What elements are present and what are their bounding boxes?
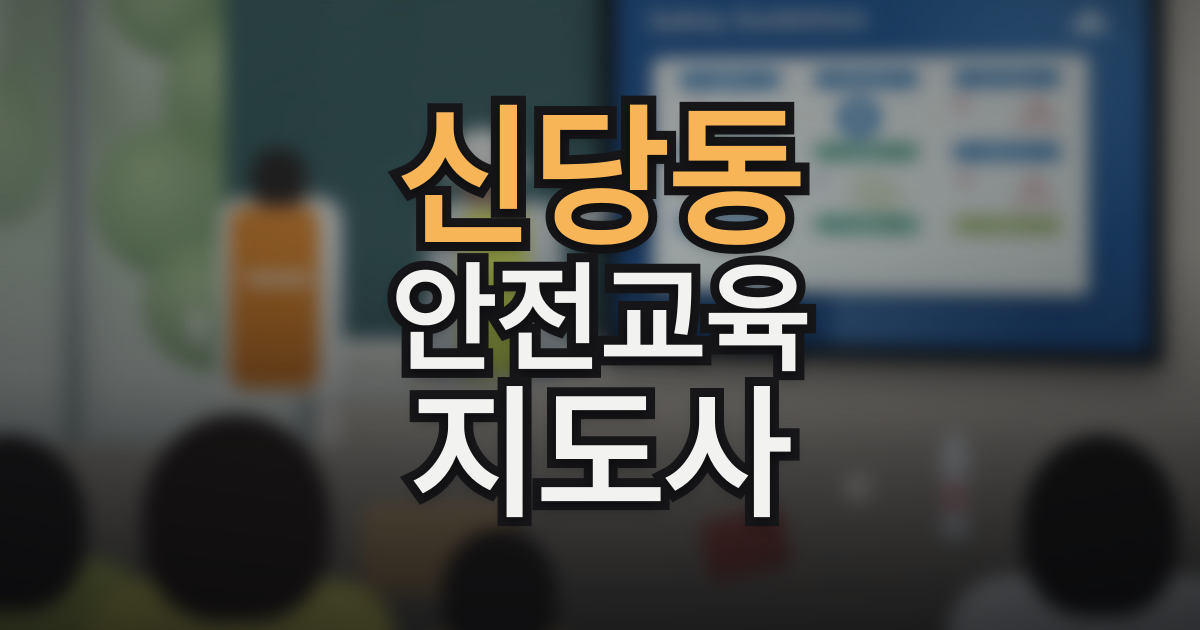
- banner-canvas: Safety Guidelines 안전관리: [0, 0, 1200, 630]
- title-line-1: 신당동: [396, 104, 804, 254]
- title-block: 신당동 안전교육 지도사: [0, 0, 1200, 630]
- title-line-2: 안전교육: [391, 262, 810, 378]
- title-line-3: 지도사: [410, 386, 790, 526]
